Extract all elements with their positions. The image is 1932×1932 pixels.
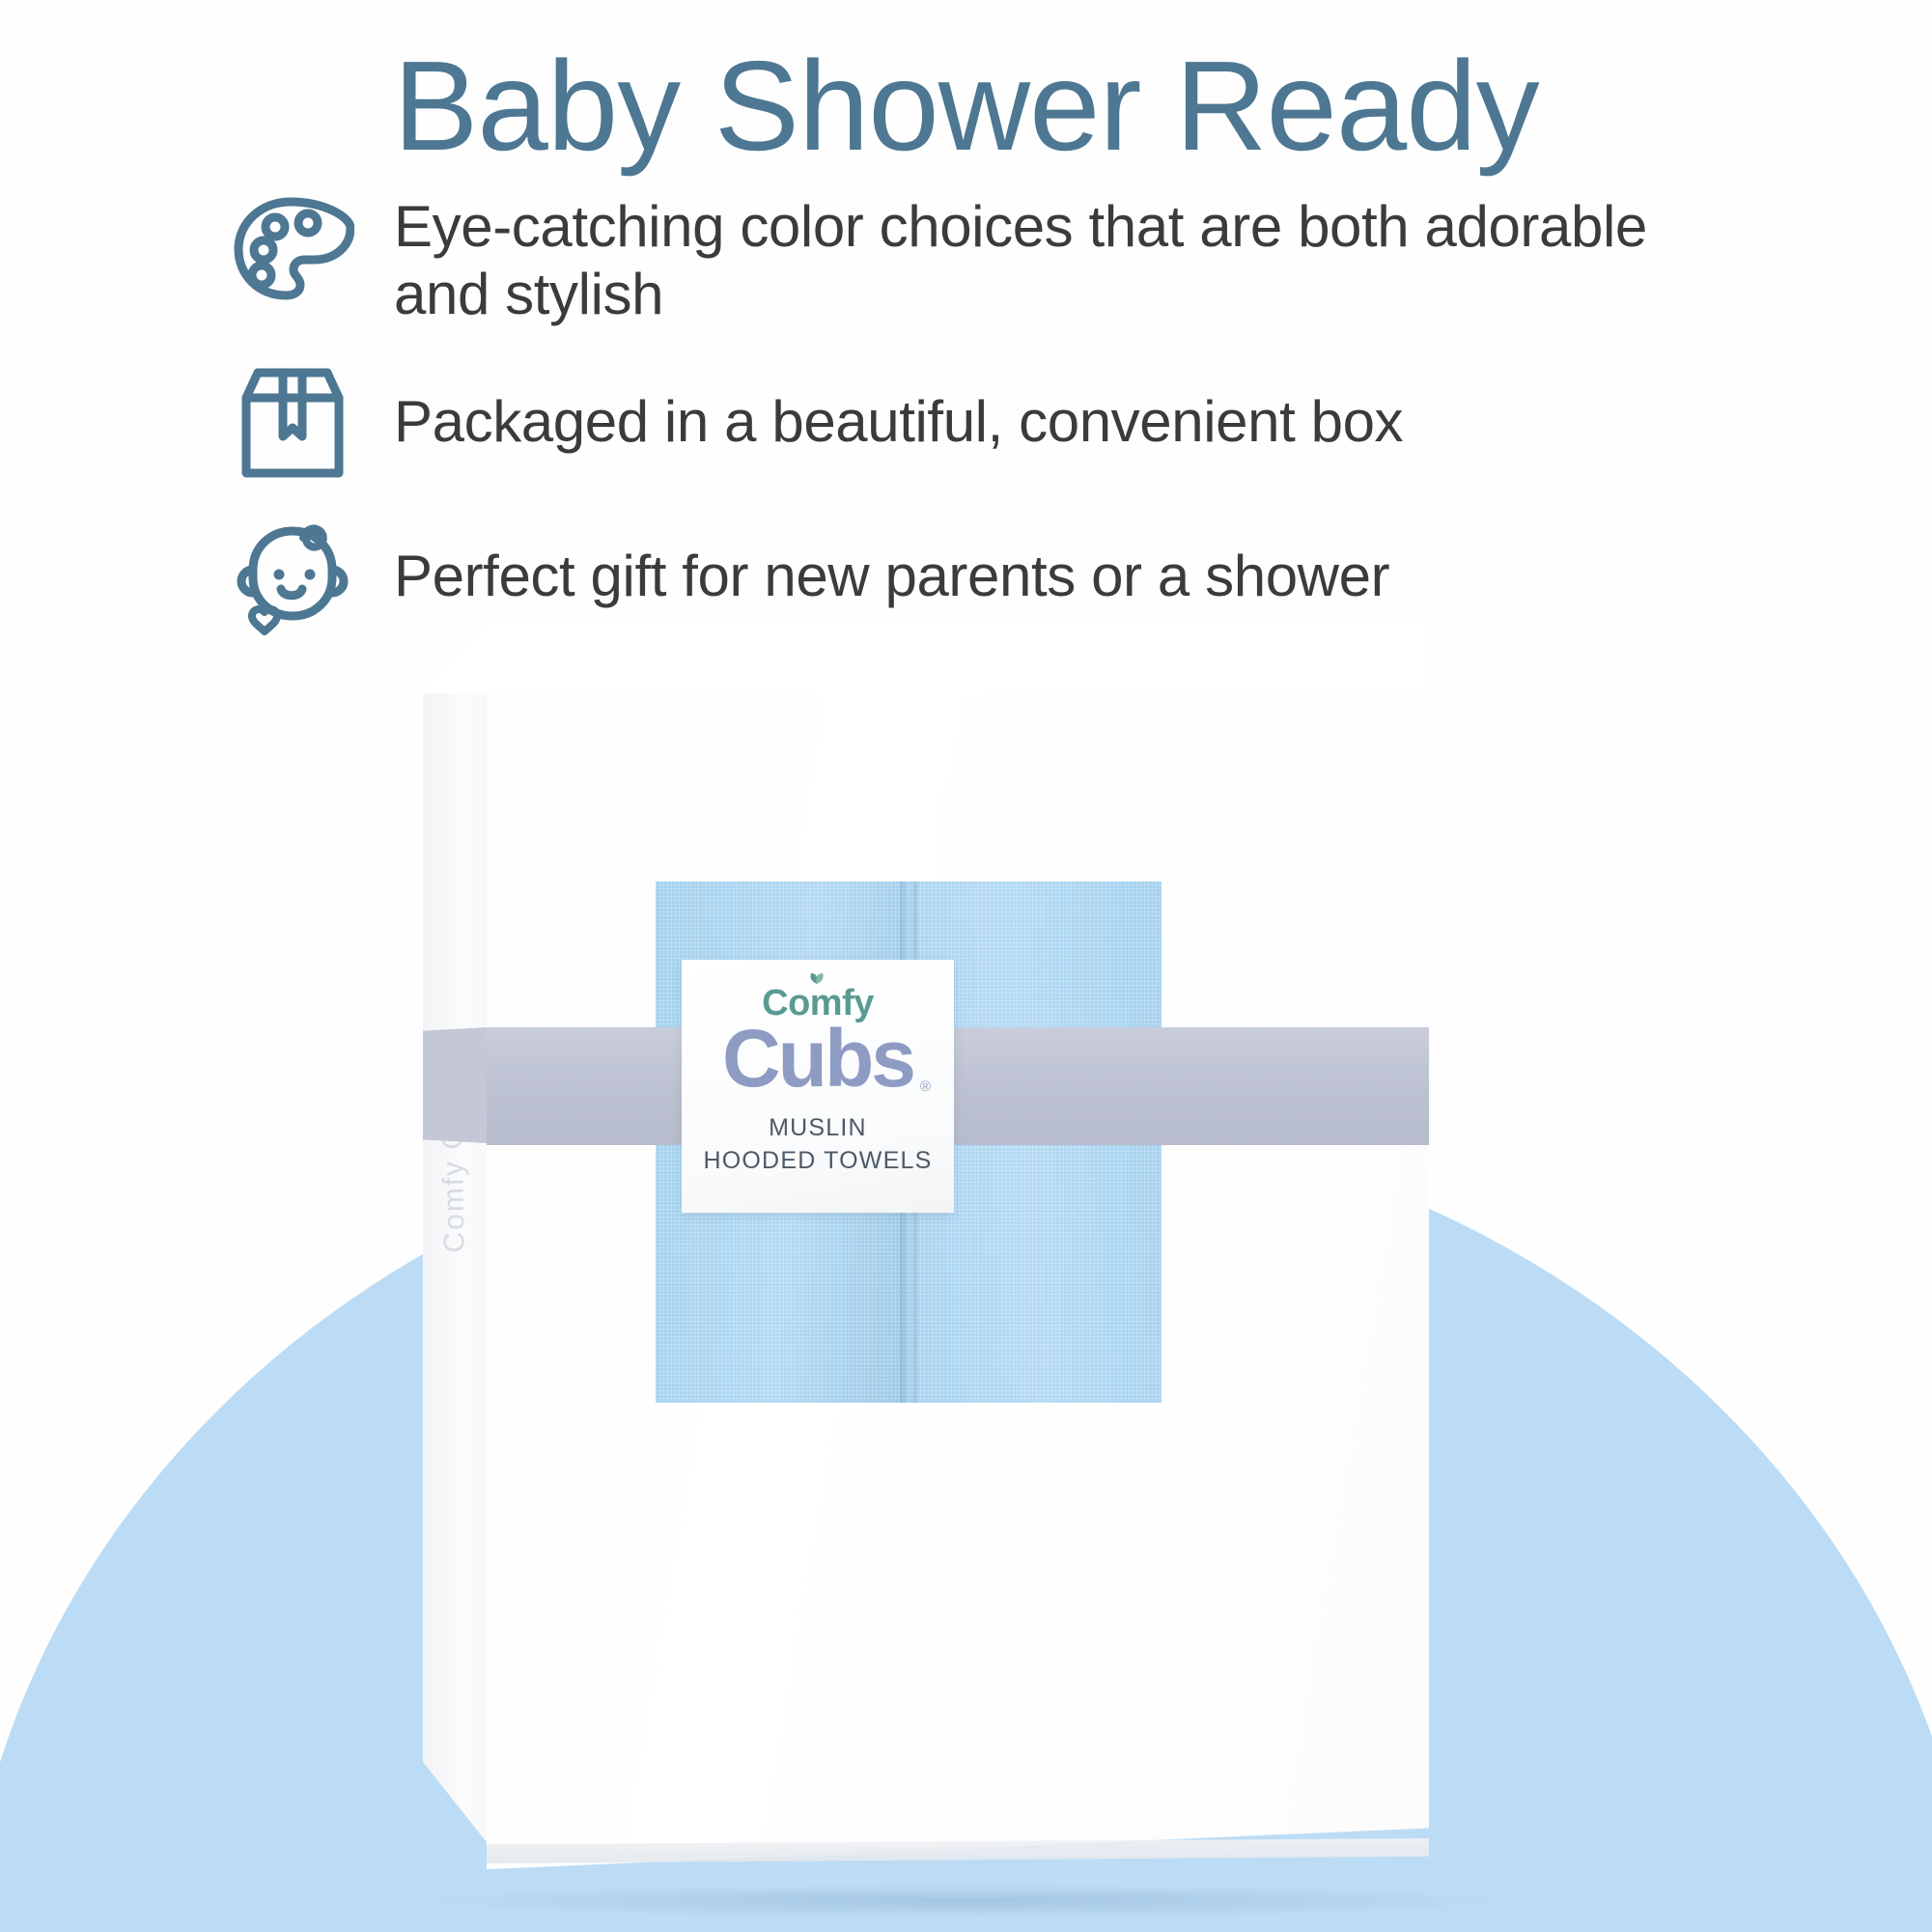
product-gift-box: Comfy Cubs Comfy	[386, 618, 1526, 1902]
registered-mark: ®	[920, 1078, 931, 1095]
list-item: Perfect gift for new parents or a shower	[220, 518, 1804, 641]
list-item: Packaged in a beautiful, convenient box	[220, 361, 1804, 485]
product-type-line-1: MUSLIN	[682, 1112, 954, 1143]
brand-label: Comfy Cubs ® MUSLIN HOODED TOWELS	[682, 960, 954, 1213]
leaf-icon	[806, 969, 827, 985]
baby-face-heart-icon	[220, 518, 365, 641]
list-item: Eye-catching color choices that are both…	[220, 189, 1804, 328]
infographic-stage: Baby Shower Ready Eye-catching color cho…	[0, 0, 1932, 1932]
box-side-face: Comfy Cubs	[423, 693, 487, 1842]
brand-name-secondary: Cubs	[722, 1013, 913, 1104]
list-item-label: Perfect gift for new parents or a shower	[394, 518, 1389, 610]
box-ribbon-band: Comfy Cubs ® MUSLIN HOODED TOWELS	[386, 1027, 1526, 1147]
list-item-label: Packaged in a beautiful, convenient box	[394, 361, 1403, 456]
band-side-segment	[423, 1027, 487, 1143]
list-item-label: Eye-catching color choices that are both…	[394, 189, 1746, 328]
page-title: Baby Shower Ready	[0, 39, 1932, 174]
palette-icon	[220, 189, 365, 313]
gift-box-icon	[220, 361, 365, 485]
feature-list: Eye-catching color choices that are both…	[220, 189, 1804, 674]
band-front-segment	[487, 1027, 1429, 1145]
product-type-line-2: HOODED TOWELS	[682, 1145, 954, 1176]
box-front-face	[487, 693, 1429, 1869]
brand-name-secondary-wrap: Cubs ®	[682, 1018, 954, 1101]
